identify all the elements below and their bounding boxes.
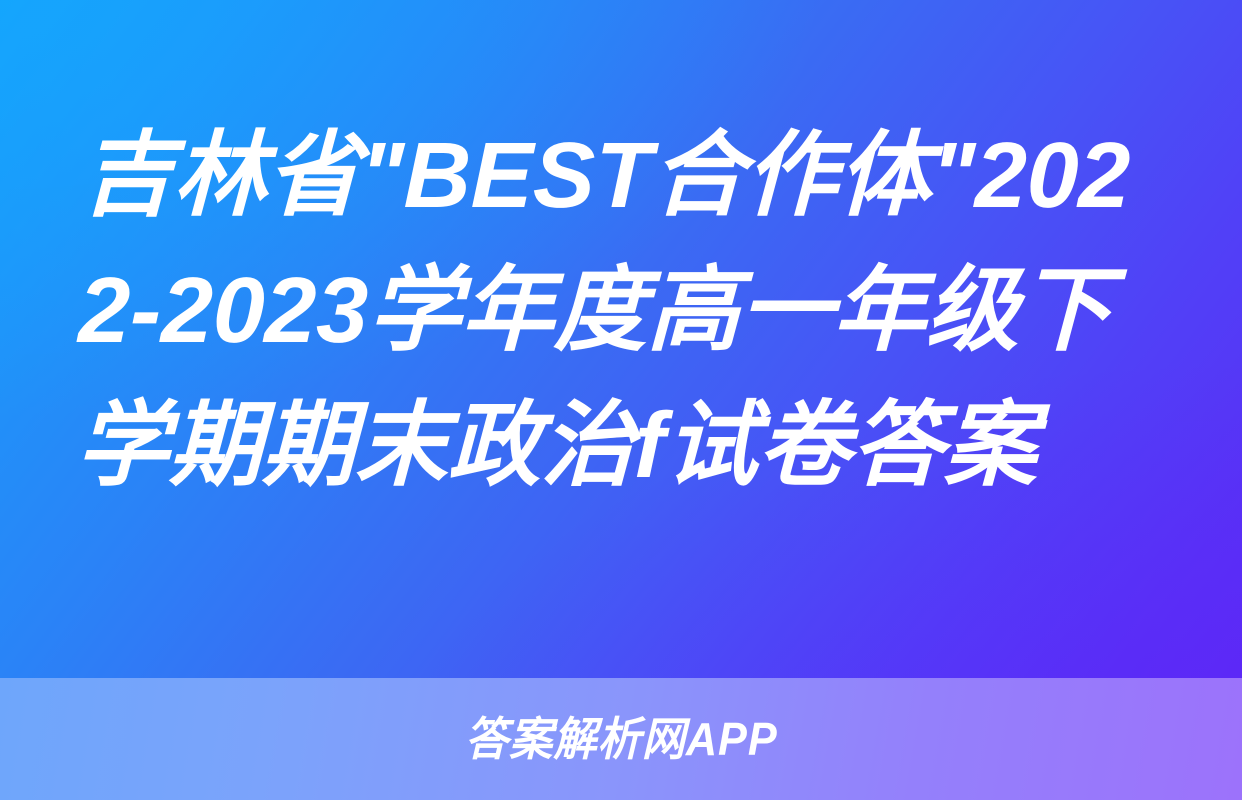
poster-canvas: 吉林省"BEST合作体"2022-2023学年度高一年级下学期期末政治f试卷答案… [0, 0, 1242, 800]
footer-band: 答案解析网APP [0, 678, 1242, 800]
footer-app-label: 答案解析网APP [465, 716, 778, 762]
poster-title: 吉林省"BEST合作体"2022-2023学年度高一年级下学期期末政治f试卷答案 [75, 108, 1172, 513]
